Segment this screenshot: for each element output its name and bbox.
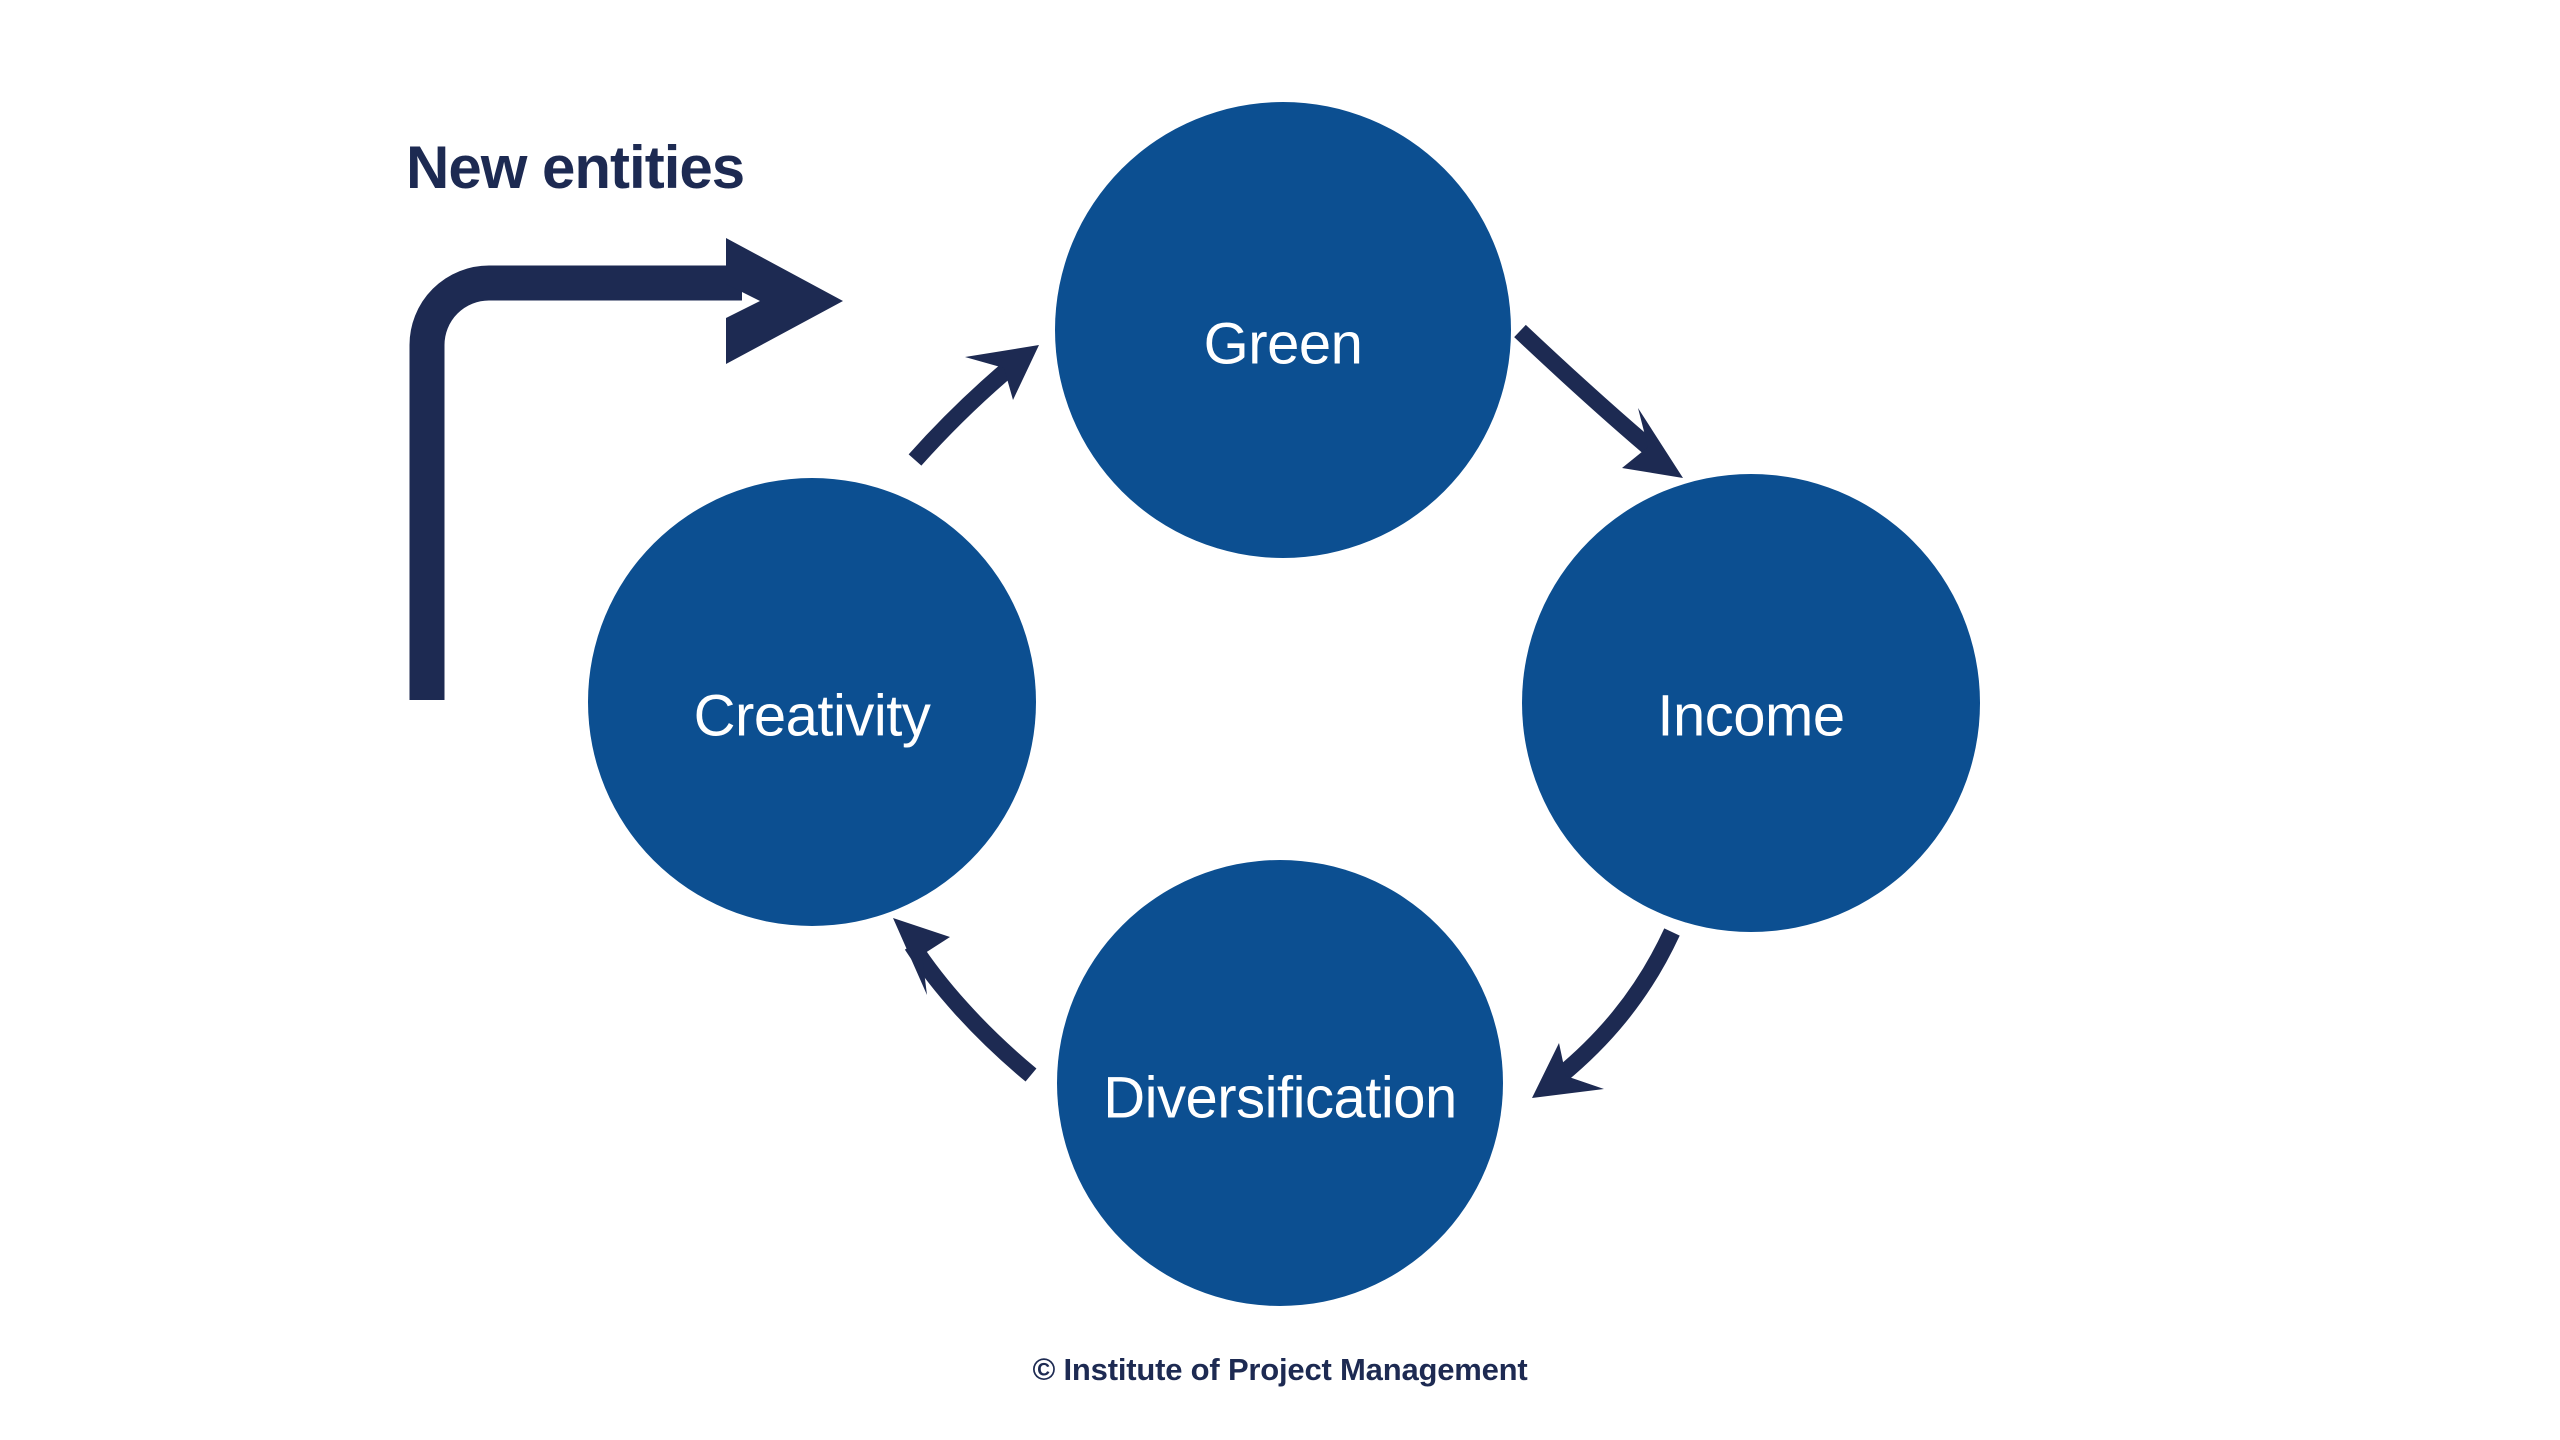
copyright-credit: © Institute of Project Management xyxy=(0,1352,2560,1388)
node-circle-green[interactable] xyxy=(1055,102,1511,558)
connector-creativity-to-green-icon xyxy=(915,345,1039,460)
connector-green-to-income-icon xyxy=(1520,331,1683,478)
diagram-canvas: Green Income Diversification Creativity … xyxy=(0,0,2560,1440)
node-circle-creativity[interactable] xyxy=(588,478,1036,926)
connector-diversification-to-creativity-icon xyxy=(893,918,1031,1075)
cycle-diagram-graphic xyxy=(0,0,2560,1440)
node-circle-diversification[interactable] xyxy=(1057,860,1503,1306)
connector-income-to-diversification-icon xyxy=(1532,932,1672,1098)
node-circle-income[interactable] xyxy=(1522,474,1980,932)
new-entities-label: New entities xyxy=(406,133,744,202)
